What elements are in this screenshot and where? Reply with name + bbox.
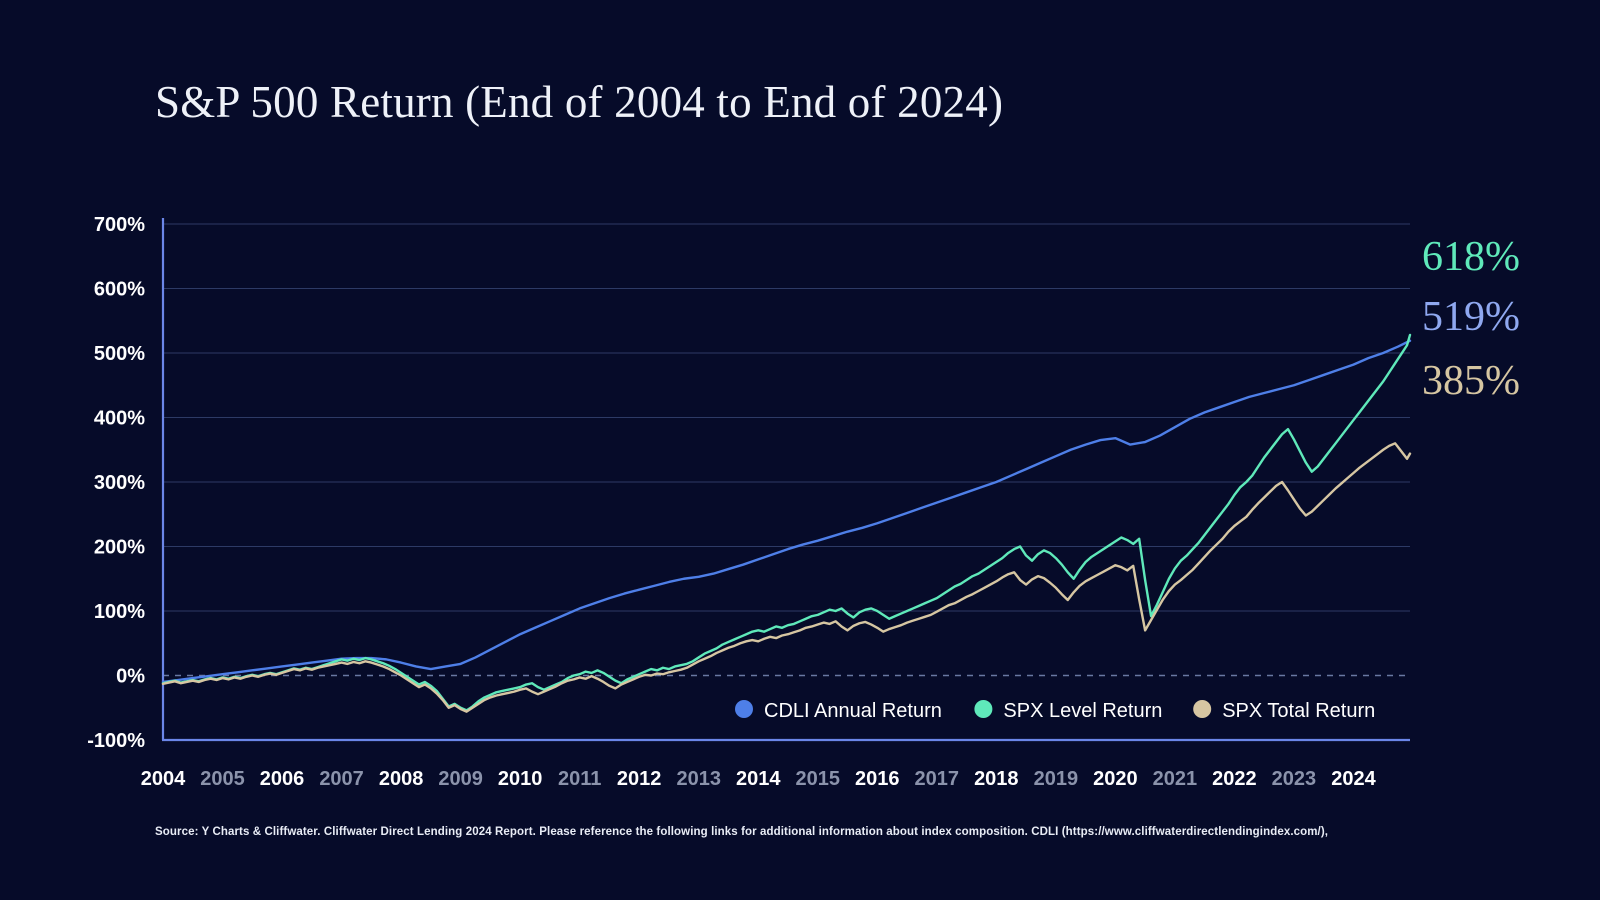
source-note: Source: Y Charts & Cliffwater. Cliffwate… — [155, 826, 1328, 838]
x-tick-label: 2024 — [1331, 768, 1376, 790]
x-tick-label: 2018 — [974, 768, 1019, 790]
x-tick-label: 2010 — [498, 768, 543, 790]
x-tick-label: 2012 — [617, 768, 662, 790]
x-tick-label: 2015 — [795, 768, 840, 790]
x-tick-label: 2011 — [558, 768, 601, 790]
y-tick-label: 100% — [94, 601, 145, 623]
legend-dot-icon — [1193, 700, 1211, 718]
x-tick-label: 2005 — [200, 768, 245, 790]
y-tick-label: 500% — [94, 343, 145, 365]
x-tick-label: 2022 — [1212, 768, 1257, 790]
y-tick-label: 300% — [94, 472, 145, 494]
legend-item[interactable]: CDLI Annual Return — [735, 700, 942, 722]
y-tick-label: 200% — [94, 537, 145, 559]
legend-item[interactable]: SPX Level Return — [974, 700, 1162, 722]
x-tick-label: 2013 — [676, 768, 721, 790]
x-tick-label: 2014 — [736, 768, 781, 790]
chart-page: S&P 500 Return (End of 2004 to End of 20… — [0, 0, 1600, 900]
x-tick-label: 2019 — [1034, 768, 1079, 790]
x-tick-label: 2023 — [1272, 768, 1317, 790]
x-tick-label: 2007 — [319, 768, 364, 790]
x-tick-label: 2008 — [379, 768, 424, 790]
legend-label: CDLI Annual Return — [764, 700, 942, 722]
end-value-label: 618% — [1422, 234, 1520, 280]
series-line-spx-total-return — [163, 443, 1410, 711]
y-tick-label: -100% — [87, 730, 145, 752]
chart-plot-area: 700%600%500%400%300%200%100%0%-100%20042… — [0, 0, 1600, 900]
legend-item[interactable]: SPX Total Return — [1193, 700, 1375, 722]
end-value-label: 519% — [1422, 294, 1520, 340]
legend-dot-icon — [974, 700, 992, 718]
chart-svg: 700%600%500%400%300%200%100%0%-100%20042… — [0, 0, 1600, 900]
x-tick-label: 2006 — [260, 768, 305, 790]
legend-label: SPX Level Return — [1003, 700, 1162, 722]
legend-dot-icon — [735, 700, 753, 718]
x-tick-label: 2009 — [438, 768, 483, 790]
y-tick-label: 600% — [94, 279, 145, 301]
x-tick-label: 2020 — [1093, 768, 1138, 790]
y-tick-label: 400% — [94, 408, 145, 430]
x-tick-label: 2016 — [855, 768, 900, 790]
end-value-label: 385% — [1422, 358, 1520, 404]
legend-label: SPX Total Return — [1222, 700, 1375, 722]
series-line-spx-level-return — [163, 335, 1410, 710]
x-tick-label: 2004 — [141, 768, 186, 790]
x-tick-label: 2017 — [915, 768, 960, 790]
y-tick-label: 0% — [116, 666, 145, 688]
x-tick-label: 2021 — [1153, 768, 1198, 790]
y-tick-label: 700% — [94, 214, 145, 236]
